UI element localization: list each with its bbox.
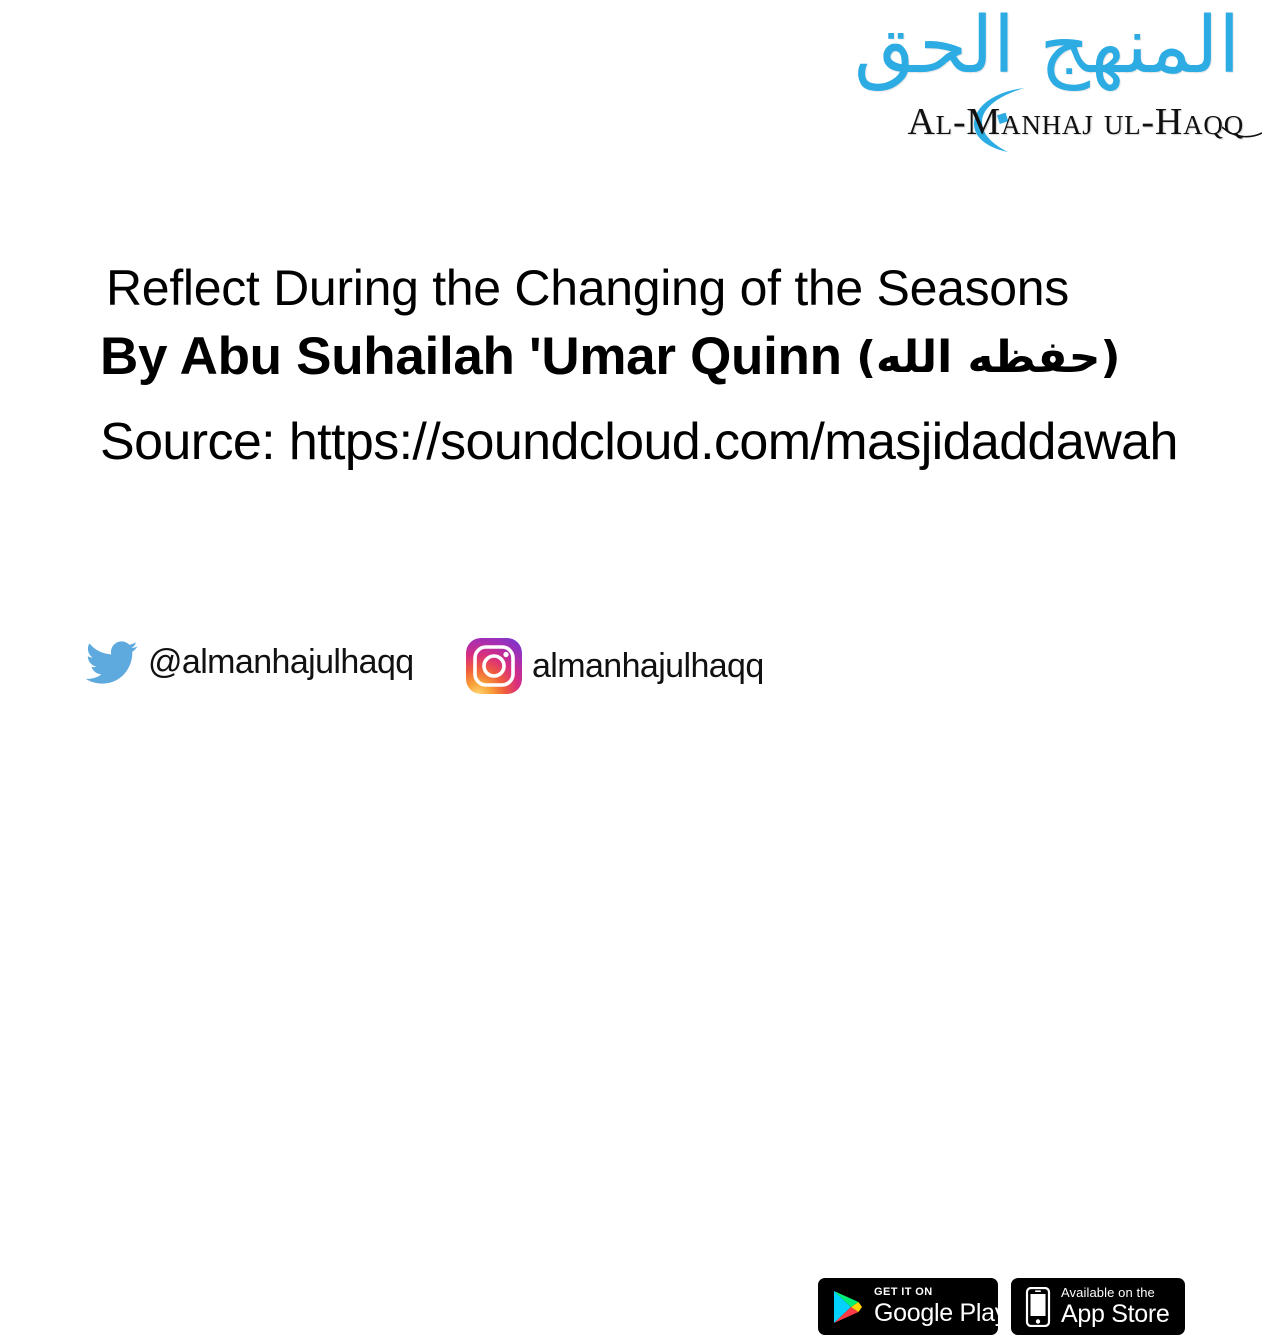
slide-canvas: المنهج الحق Al-Manhaj ul-Haqq Reflect Du… [0, 0, 1280, 720]
lecture-byline-arabic: (حفظه الله) [856, 332, 1120, 383]
app-store-big-label: App Store [1061, 1302, 1169, 1327]
lecture-byline-name: By Abu Suhailah 'Umar Quinn [100, 327, 842, 386]
google-play-big-label: Google Play [874, 1301, 1007, 1326]
google-play-badge[interactable]: GET IT ON Google Play [818, 1278, 998, 1335]
app-store-small-label: Available on the [1061, 1286, 1169, 1299]
title-block: Reflect During the Changing of the Seaso… [100, 262, 1210, 484]
google-play-icon [832, 1290, 862, 1324]
iphone-icon [1025, 1287, 1051, 1327]
google-play-small-label: GET IT ON [874, 1287, 1007, 1298]
twitter-bird-icon [86, 640, 138, 684]
brand-logo-arabic: المنهج الحق [854, 6, 1240, 88]
brand-logo: المنهج الحق Al-Manhaj ul-Haqq [762, 6, 1262, 156]
lecture-source: Source: https://soundcloud.com/masjidadd… [100, 400, 1210, 484]
app-store-text: Available on the App Store [1061, 1286, 1169, 1327]
app-store-badge[interactable]: Available on the App Store [1011, 1278, 1185, 1335]
instagram-handle-group[interactable]: almanhajulhaqq [466, 638, 764, 694]
lecture-title: Reflect During the Changing of the Seaso… [100, 262, 1210, 314]
brand-logo-latin: Al-Manhaj ul-Haqq [907, 100, 1244, 144]
instagram-handle-label: almanhajulhaqq [532, 647, 764, 686]
twitter-handle-label: @almanhajulhaqq [148, 643, 414, 682]
lecture-byline: By Abu Suhailah 'Umar Quinn (حفظه الله) [100, 314, 1210, 400]
twitter-handle-group[interactable]: @almanhajulhaqq [86, 640, 414, 684]
instagram-icon [466, 638, 522, 694]
footer-bar: @almanhajulhaqq [0, 634, 1280, 716]
google-play-text: GET IT ON Google Play [874, 1287, 1007, 1326]
